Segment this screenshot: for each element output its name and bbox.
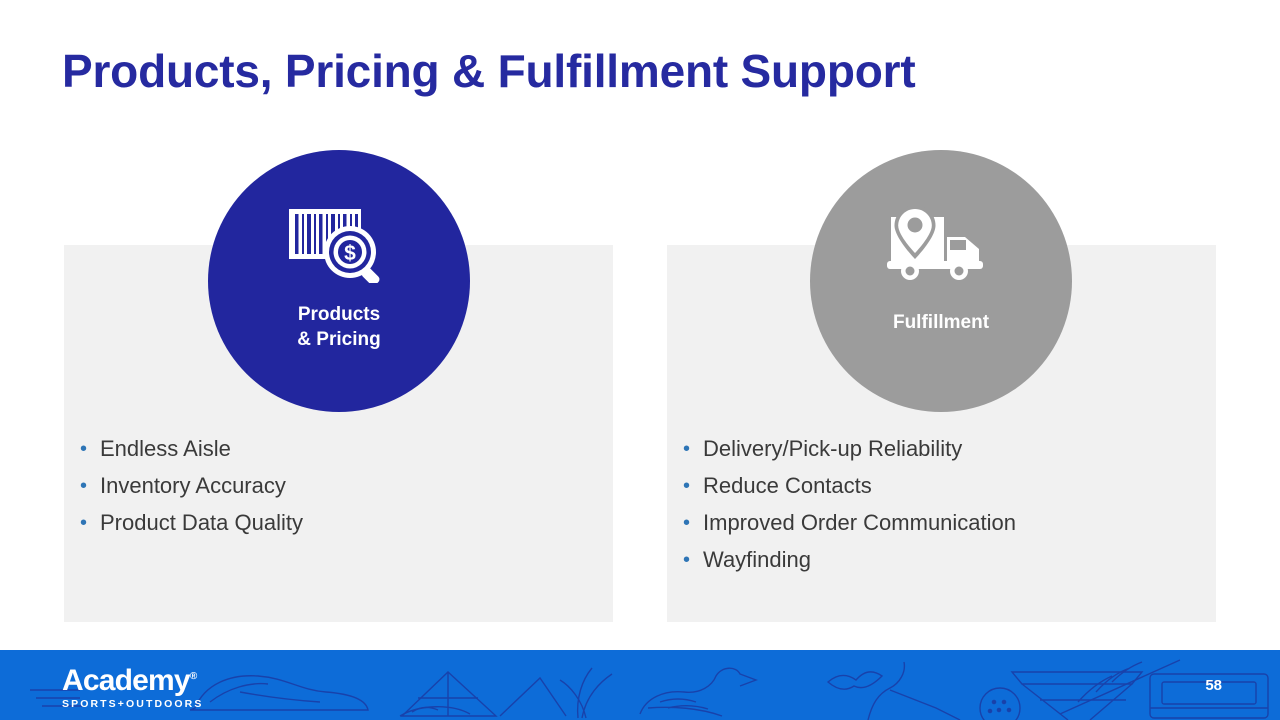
circle-label-line-1: Fulfillment [893, 310, 989, 335]
list-item-label: Wayfinding [703, 547, 811, 573]
registered-trademark-icon: ® [190, 671, 197, 682]
slide: Products, Pricing & Fulfillment Support … [0, 0, 1280, 720]
bullet-marker-icon: • [683, 547, 703, 573]
circle-label-line-1: Products [297, 302, 380, 327]
page-title: Products, Pricing & Fulfillment Support [62, 44, 915, 98]
footer-band: Academy® SPORTS+OUTDOORS 58 [0, 650, 1280, 720]
logo-tagline: SPORTS+OUTDOORS [62, 697, 203, 711]
list-item-label: Delivery/Pick-up Reliability [703, 436, 962, 462]
bullet-marker-icon: • [683, 510, 703, 536]
circle-badge-fulfillment: Fulfillment [810, 150, 1072, 412]
list-item-label: Inventory Accuracy [100, 473, 286, 499]
list-item: • Delivery/Pick-up Reliability [683, 436, 1016, 473]
list-item-label: Product Data Quality [100, 510, 303, 536]
circle-label-line-2: & Pricing [297, 327, 380, 352]
barcode-magnifier-dollar-icon: $ [287, 207, 391, 288]
circle-badge-products-pricing: $ Products & Pricing [208, 150, 470, 412]
bullet-marker-icon: • [80, 473, 100, 499]
page-number: 58 [1205, 677, 1222, 694]
bullet-marker-icon: • [683, 473, 703, 499]
circle-label-fulfillment: Fulfillment [893, 310, 989, 335]
list-item-label: Reduce Contacts [703, 473, 872, 499]
delivery-truck-location-pin-icon [887, 205, 995, 286]
list-item: • Reduce Contacts [683, 473, 1016, 510]
bullet-marker-icon: • [80, 436, 100, 462]
list-item: • Improved Order Communication [683, 510, 1016, 547]
bullet-list-fulfillment: • Delivery/Pick-up Reliability • Reduce … [683, 436, 1016, 584]
list-item: • Inventory Accuracy [80, 473, 303, 510]
academy-logo: Academy® SPORTS+OUTDOORS [62, 662, 203, 711]
circle-label-products-pricing: Products & Pricing [297, 302, 380, 352]
svg-text:$: $ [344, 242, 356, 265]
bullet-marker-icon: • [683, 436, 703, 462]
list-item: • Endless Aisle [80, 436, 303, 473]
logo-wordmark-text: Academy [62, 664, 190, 697]
list-item-label: Endless Aisle [100, 436, 231, 462]
list-item: • Wayfinding [683, 547, 1016, 584]
bullet-list-products: • Endless Aisle • Inventory Accuracy • P… [80, 436, 303, 547]
list-item-label: Improved Order Communication [703, 510, 1016, 536]
logo-wordmark: Academy® [62, 662, 203, 696]
list-item: • Product Data Quality [80, 510, 303, 547]
bullet-marker-icon: • [80, 510, 100, 536]
